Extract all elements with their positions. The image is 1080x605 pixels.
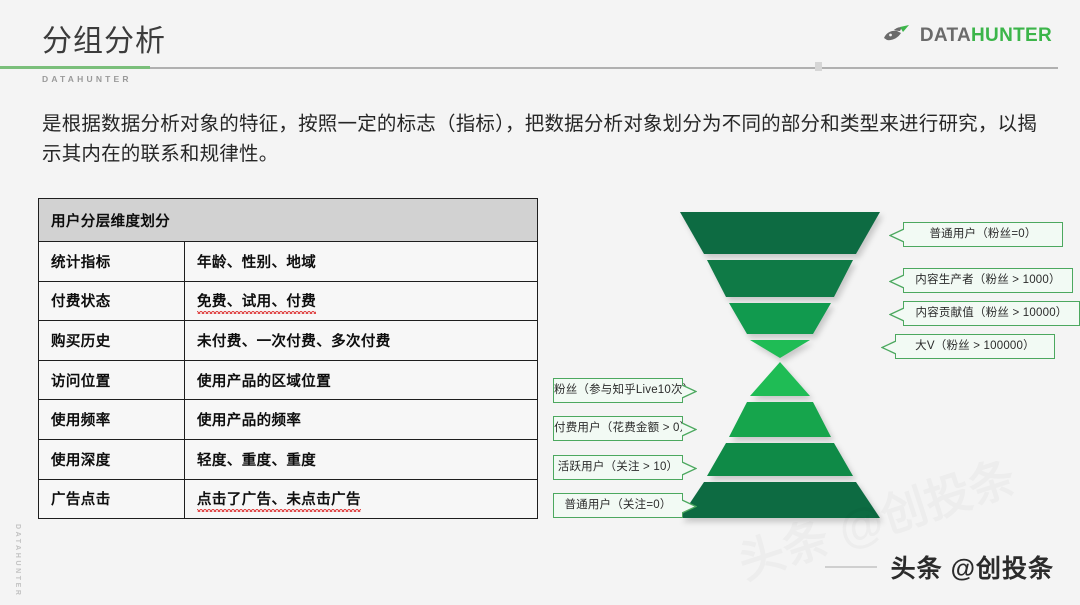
callout-lower-2: 付费用户（花费金额 > 0）	[553, 416, 683, 441]
callout-upper-3: 内容贡献值（粉丝 > 10000）	[903, 301, 1080, 326]
callout-notch-icon	[889, 307, 904, 322]
cell-text: 使用产品的区域位置	[197, 374, 331, 390]
watermark-rule	[825, 566, 877, 568]
callout-notch-icon	[682, 461, 697, 476]
table-cell-dimension: 广告点击	[39, 479, 185, 519]
funnel-segment-3	[729, 303, 831, 334]
table-row: 广告点击 点击了广告、未点击广告	[39, 479, 538, 519]
logo-text-hunter: HUNTER	[971, 25, 1052, 46]
table-cell-values: 使用产品的频率	[185, 400, 538, 440]
datahunter-logo-icon	[881, 24, 911, 46]
table-cell-values: 年龄、性别、地域	[185, 242, 538, 282]
table-row: 访问位置 使用产品的区域位置	[39, 360, 538, 400]
callout-label: 普通用户（关注=0）	[564, 499, 671, 511]
cell-text-spellcheck: 点击了广告、未点击广告	[197, 488, 361, 509]
funnel-segment-1	[680, 212, 880, 254]
table-body: 用户分层维度划分 统计指标 年龄、性别、地域 付费状态 免费、试用、付费 购买历…	[39, 199, 538, 519]
logo-wordmark: DATAHUNTER	[920, 26, 1052, 45]
table-cell-values: 免费、试用、付费	[185, 281, 538, 321]
pyramid-segment-3	[707, 443, 853, 476]
slide-root: 分组分析 DATAHUNTER DATAHUNTER 是根据数据分析对象的特征，…	[0, 0, 1080, 605]
callout-lower-3: 活跃用户（关注 > 10）	[553, 455, 683, 480]
cell-text: 未付费、一次付费、多次付费	[197, 334, 391, 350]
callout-label: 活跃用户（关注 > 10）	[558, 461, 679, 473]
vertical-brand-text: DATAHUNTER	[14, 524, 21, 598]
table-cell-values: 未付费、一次付费、多次付费	[185, 321, 538, 361]
cell-text: 年龄、性别、地域	[197, 255, 316, 271]
hourglass-diagram: 普通用户（粉丝=0） 内容生产者（粉丝 > 1000） 内容贡献值（粉丝 > 1…	[520, 200, 1080, 540]
table-cell-values: 点击了广告、未点击广告	[185, 479, 538, 519]
pyramid-segment-2	[729, 402, 831, 437]
watermark-text: 头条 @创投条	[891, 549, 1054, 585]
callout-notch-icon	[889, 274, 904, 289]
table-cell-dimension: 使用频率	[39, 400, 185, 440]
header-rule-gray	[150, 67, 1058, 69]
callout-label: 付费用户（花费金额 > 0）	[554, 422, 691, 434]
table-cell-dimension: 购买历史	[39, 321, 185, 361]
table-cell-dimension: 使用深度	[39, 439, 185, 479]
cell-text: 使用产品的频率	[197, 413, 301, 429]
table-header-cell: 用户分层维度划分	[39, 199, 538, 242]
table-row: 统计指标 年龄、性别、地域	[39, 242, 538, 282]
callout-label: 内容生产者（粉丝 > 1000）	[915, 274, 1060, 286]
callout-upper-4: 大V（粉丝 > 100000）	[895, 334, 1055, 359]
table-cell-dimension: 付费状态	[39, 281, 185, 321]
funnel-segment-4	[750, 340, 810, 358]
table-cell-values: 轻度、重度、重度	[185, 439, 538, 479]
callout-notch-icon	[682, 384, 697, 399]
callout-upper-1: 普通用户（粉丝=0）	[903, 222, 1063, 247]
page-title: 分组分析	[42, 16, 166, 60]
callout-label: 粉丝（参与知乎Live10次）	[554, 384, 694, 396]
table-row: 使用频率 使用产品的频率	[39, 400, 538, 440]
table-cell-dimension: 统计指标	[39, 242, 185, 282]
callout-label: 普通用户（粉丝=0）	[929, 228, 1036, 240]
callout-label: 大V（粉丝 > 100000）	[915, 340, 1035, 352]
header-rule-green	[0, 66, 150, 69]
logo-text-data: DATA	[920, 25, 971, 46]
cell-text-spellcheck: 免费、试用、付费	[197, 290, 316, 311]
callout-upper-2: 内容生产者（粉丝 > 1000）	[903, 268, 1073, 293]
pyramid-segment-4	[680, 482, 880, 518]
header-subtitle: DATAHUNTER	[42, 74, 132, 84]
funnel-segment-2	[707, 260, 853, 297]
table-header-row: 用户分层维度划分	[39, 199, 538, 242]
callout-lower-1: 粉丝（参与知乎Live10次）	[553, 378, 683, 403]
table-cell-values: 使用产品的区域位置	[185, 360, 538, 400]
table-row: 使用深度 轻度、重度、重度	[39, 439, 538, 479]
brand-logo: DATAHUNTER	[881, 24, 1052, 46]
callout-notch-icon	[889, 228, 904, 243]
table-cell-dimension: 访问位置	[39, 360, 185, 400]
callout-notch-icon	[682, 422, 697, 437]
upper-funnel-shape	[680, 212, 880, 358]
callout-lower-4: 普通用户（关注=0）	[553, 493, 683, 518]
table-row: 购买历史 未付费、一次付费、多次付费	[39, 321, 538, 361]
callout-notch-icon	[881, 340, 896, 355]
dimension-table: 用户分层维度划分 统计指标 年龄、性别、地域 付费状态 免费、试用、付费 购买历…	[38, 198, 538, 519]
table-row: 付费状态 免费、试用、付费	[39, 281, 538, 321]
body-paragraph: 是根据数据分析对象的特征，按照一定的标志（指标），把数据分析对象划分为不同的部分…	[42, 110, 1042, 169]
cell-text: 轻度、重度、重度	[197, 453, 316, 469]
callout-notch-icon	[682, 499, 697, 514]
callout-label: 内容贡献值（粉丝 > 10000）	[916, 307, 1068, 319]
header-rule-marker	[815, 62, 822, 71]
pyramid-segment-1	[750, 362, 810, 396]
lower-pyramid-shape	[680, 362, 880, 518]
corner-watermark: 头条 @创投条	[825, 549, 1054, 585]
